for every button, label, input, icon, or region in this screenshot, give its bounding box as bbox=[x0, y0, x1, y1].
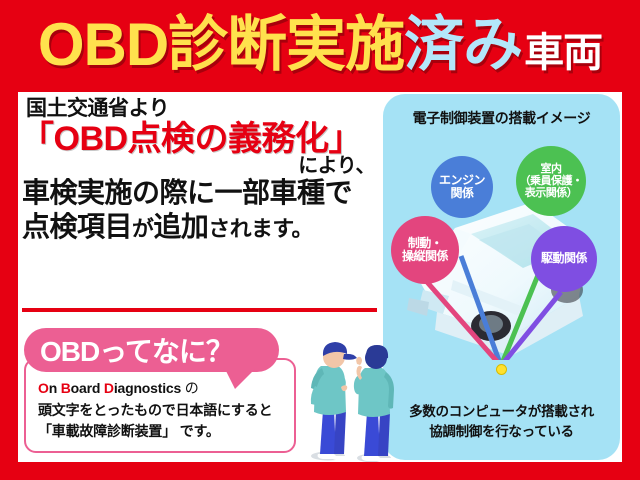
section-divider bbox=[22, 308, 377, 312]
obd-banner: OBD診断実施済み車両 国土交通省より 「OBD点検の義務化」 により、 車検実… bbox=[0, 0, 640, 480]
banner-header: OBD診断実施済み車両 bbox=[0, 0, 640, 90]
obd-question-label: OBDってなに？ bbox=[40, 330, 233, 370]
def-cap-o: O bbox=[38, 380, 49, 396]
def-text-tail: の bbox=[181, 380, 199, 396]
header-text-yellow: OBD診断実施 bbox=[38, 15, 404, 75]
notice-line-5: 点検項目が追加されます。 bbox=[18, 212, 381, 242]
node-cabin-label-3: 表示関係） bbox=[520, 187, 583, 199]
obd-definition-box: On Board Diagnostics の 頭文字をとったもので日本語にすると… bbox=[24, 358, 296, 453]
notice-line-5-c: 追加 bbox=[153, 211, 208, 242]
obd-question-bubble: OBDってなに？ bbox=[24, 328, 279, 372]
content-card: 国土交通省より 「OBD点検の義務化」 により、 車検実施の際に一部車種で 点検… bbox=[18, 92, 622, 462]
definition-line-3: 「車載故障診断装置」 です。 bbox=[38, 421, 284, 443]
notice-line-4: 車検実施の際に一部車種で bbox=[18, 178, 381, 208]
node-drive: 駆動関係 bbox=[531, 226, 597, 292]
node-brake: 制動・ 操縦関係 bbox=[391, 216, 459, 284]
def-cap-d: D bbox=[104, 380, 114, 396]
header-text-white: 車両 bbox=[524, 33, 602, 73]
panel-caption-line-2: 協調制御を行なっている bbox=[383, 422, 620, 442]
node-cabin-label-1: 室内 bbox=[520, 163, 583, 175]
panel-caption-line-1: 多数のコンピュータが搭載され bbox=[383, 402, 620, 422]
notice-line-5-d: されます。 bbox=[208, 216, 312, 241]
node-cabin-label-2: （乗員保護・ bbox=[520, 175, 583, 187]
def-text-oard: oard bbox=[71, 380, 104, 396]
def-text-n: n bbox=[49, 380, 61, 396]
panel-title: 電子制御装置の搭載イメージ bbox=[383, 108, 620, 128]
left-column: 国土交通省より 「OBD点検の義務化」 により、 車検実施の際に一部車種で 点検… bbox=[18, 92, 381, 462]
notice-line-5-a: 点検項目 bbox=[22, 211, 132, 242]
node-engine: エンジン 関係 bbox=[431, 156, 493, 218]
obd-explainer: OBDってなに？ On Board Diagnostics の 頭文字をとったも… bbox=[24, 328, 302, 453]
def-cap-b: B bbox=[61, 380, 71, 396]
notice-line-3: により、 bbox=[18, 156, 381, 177]
node-drive-label-1: 駆動関係 bbox=[541, 252, 587, 265]
def-text-iagnostics: iagnostics bbox=[114, 380, 181, 396]
person-right-icon bbox=[354, 345, 394, 462]
ecu-diagram-panel: 電子制御装置の搭載イメージ bbox=[383, 94, 620, 460]
header-text-cyan: 済み bbox=[404, 15, 522, 75]
node-brake-label-2: 操縦関係 bbox=[402, 250, 448, 263]
mechanics-illustration bbox=[298, 314, 408, 462]
hub-dot-icon bbox=[496, 364, 507, 375]
notice-line-1: 国土交通省より bbox=[18, 98, 381, 120]
bubble-tail-icon bbox=[225, 369, 255, 389]
person-left-icon bbox=[311, 342, 357, 460]
notice-block: 国土交通省より 「OBD点検の義務化」 により、 車検実施の際に一部車種で 点検… bbox=[18, 98, 381, 242]
definition-line-2: 頭文字をとったもので日本語にすると bbox=[38, 400, 284, 422]
node-cabin: 室内 （乗員保護・ 表示関係） bbox=[516, 146, 586, 216]
panel-caption: 多数のコンピュータが搭載され 協調制御を行なっている bbox=[383, 402, 620, 443]
notice-line-5-b: が bbox=[132, 216, 153, 241]
node-engine-label-2: 関係 bbox=[439, 187, 485, 200]
notice-line-2-highlight: 「OBD点検の義務化」 bbox=[18, 121, 381, 157]
